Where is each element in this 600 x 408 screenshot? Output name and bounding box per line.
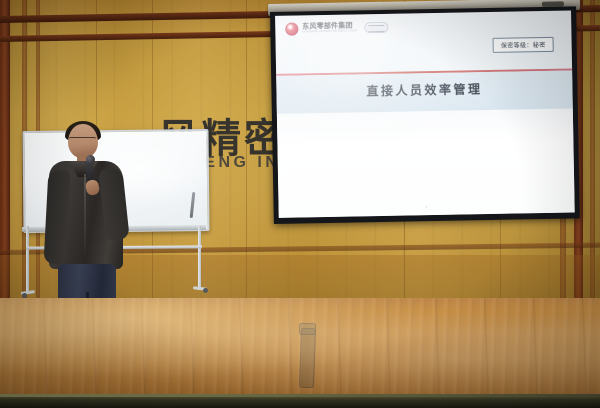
whiteboard-caster [203,288,208,293]
slide-company-logo: 东风零部件集团 DONGFENG AUTOMOTIVE PARTS GROUP [285,21,388,36]
floor-reflection [0,298,600,408]
slide-confidentiality-box: 保密等级：秘密 [493,37,554,53]
company-mark-icon [285,22,298,35]
company-name-sub: DONGFENG AUTOMOTIVE PARTS GROUP [302,31,357,35]
company-logo-text: 东风零部件集团 DONGFENG AUTOMOTIVE PARTS GROUP [302,23,357,35]
whiteboard-stand-leg [198,226,201,290]
presenter-glasses-icon [69,137,96,144]
photo-scene: 风精密 NGFENG INVE 正 东风零部件集团 DONGFENG AUTOM… [0,0,600,408]
whiteboard-stand-leg [26,226,29,294]
confidentiality-label: 保密等级：秘密 [501,40,546,50]
projection-screen: 东风零部件集团 DONGFENG AUTOMOTIVE PARTS GROUP … [270,6,580,224]
secondary-badge-icon [364,22,388,33]
presentation-slide: 东风零部件集团 DONGFENG AUTOMOTIVE PARTS GROUP … [275,10,575,217]
stage-floor [0,298,600,408]
stage-front-edge [0,394,600,408]
